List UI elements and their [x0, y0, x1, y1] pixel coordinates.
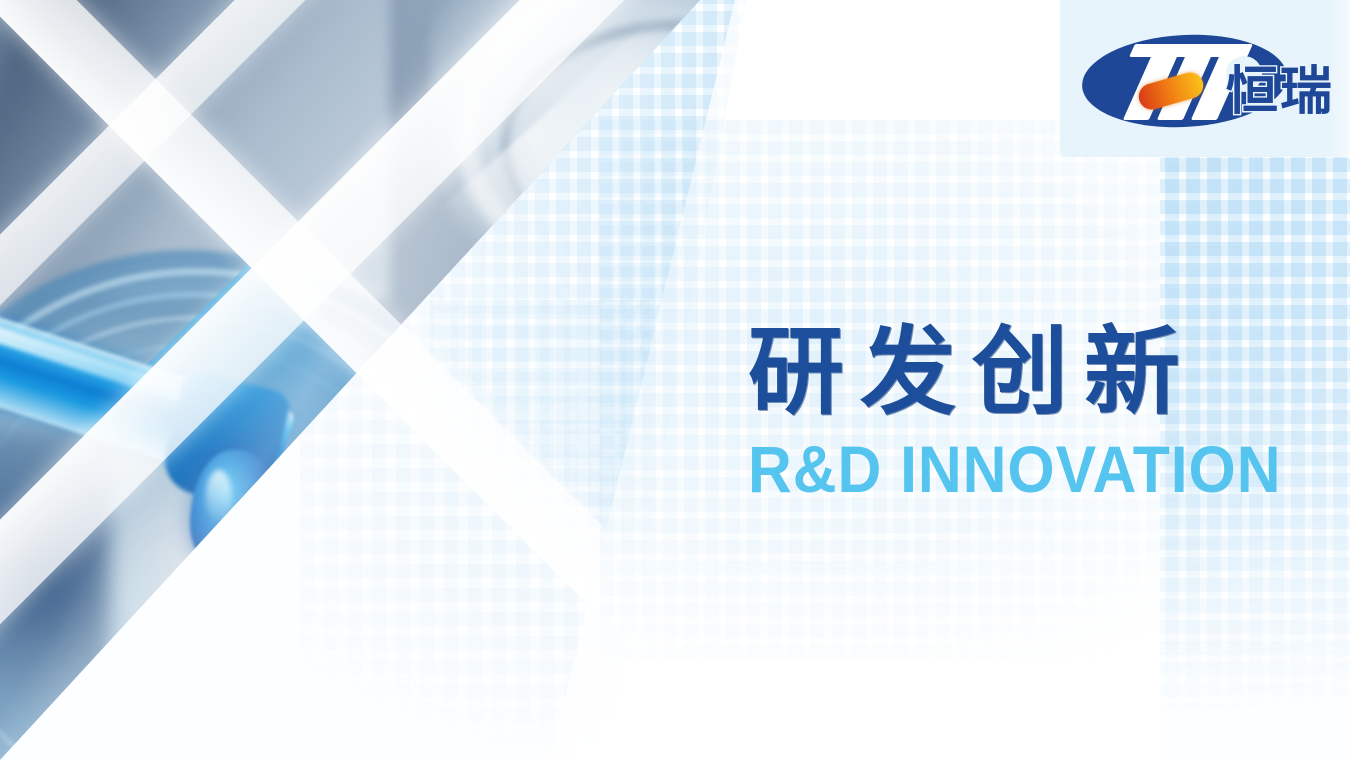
page-title-english: R&D INNOVATION — [748, 436, 1300, 502]
rd-innovation-banner: 研发创新 R&D INNOVATION 恒瑞 恒瑞 — [0, 0, 1350, 760]
page-title-chinese: 研发创新 — [748, 324, 1348, 420]
title-block: 研发创新 R&D INNOVATION — [748, 324, 1348, 502]
logo-brand-text: 恒瑞 — [1226, 66, 1334, 118]
hengrui-logo[interactable]: 恒瑞 恒瑞 — [1076, 30, 1338, 134]
